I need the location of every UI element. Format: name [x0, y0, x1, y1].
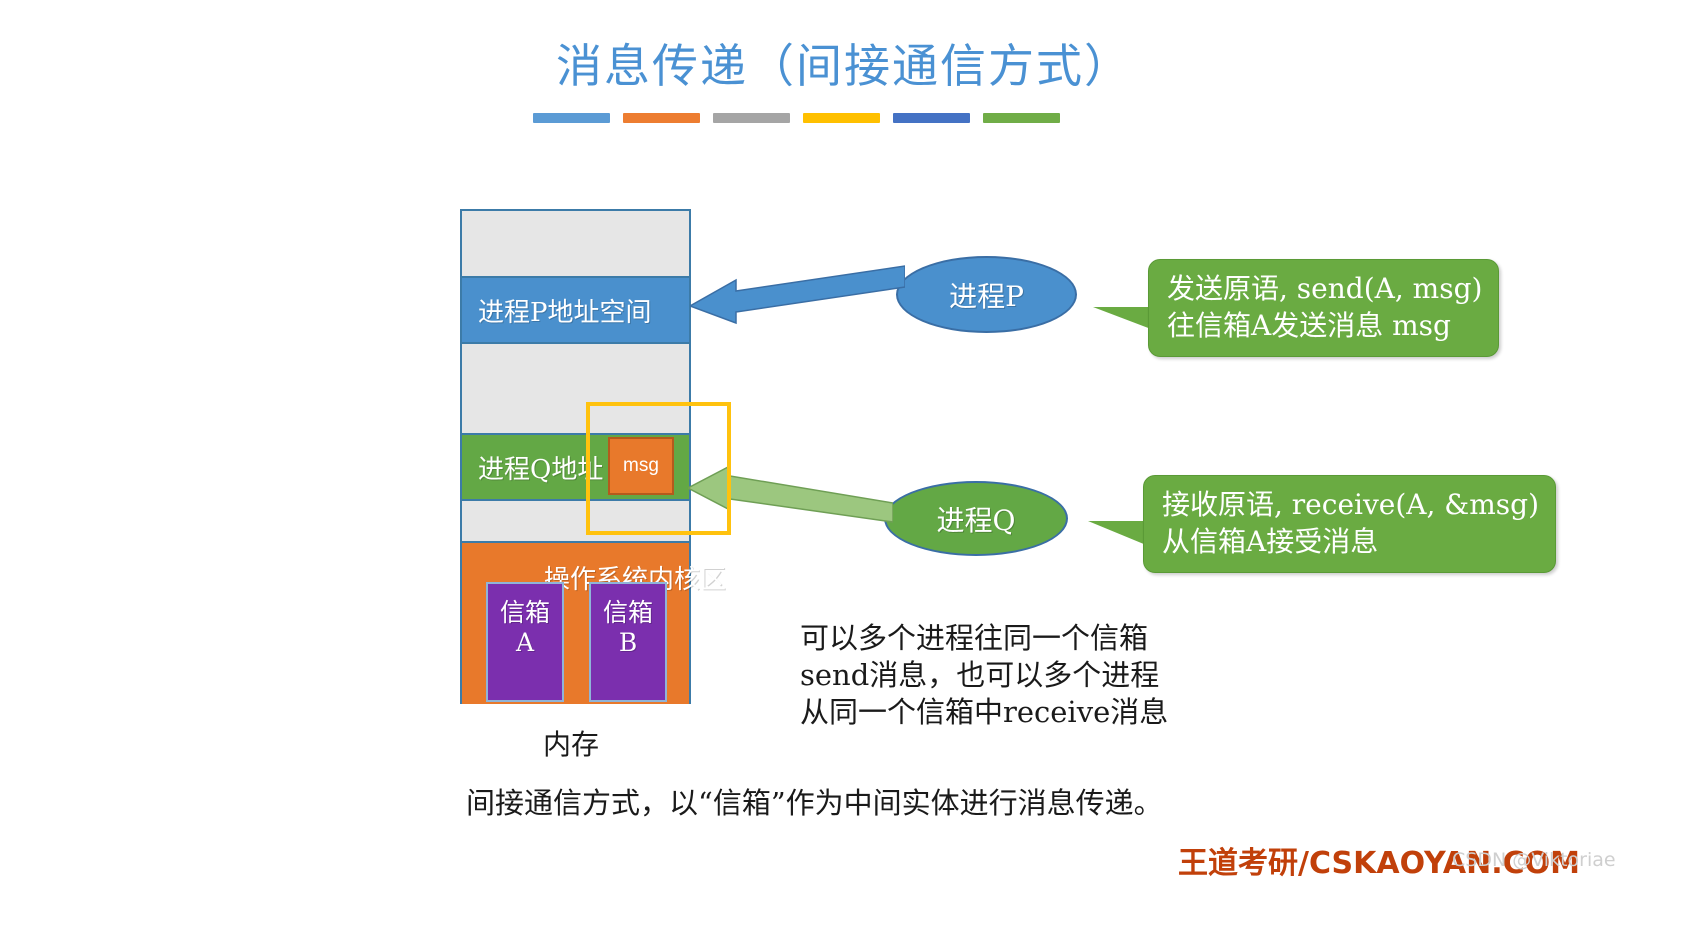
mailbox-b-title: 信箱: [603, 598, 653, 627]
memory-band-process-p-label: 进程P地址空间: [478, 292, 652, 329]
mailbox-b-id: B: [619, 628, 637, 657]
page-title: 消息传递（间接通信方式）: [0, 30, 1688, 96]
receive-callout-line2: 从信箱A接受消息: [1162, 523, 1539, 560]
process-p-label: 进程P: [949, 275, 1024, 315]
highlight-frame: [586, 402, 731, 535]
rule-green: [983, 113, 1060, 123]
arrow-send-to-memory: [690, 258, 905, 330]
note-line2: send消息，也可以多个进程: [800, 657, 1168, 694]
process-q-label: 进程Q: [937, 499, 1016, 539]
rule-orange: [623, 113, 700, 123]
memory-caption: 内存: [543, 723, 599, 763]
explanatory-note: 可以多个进程往同一个信箱 send消息，也可以多个进程 从同一个信箱中recei…: [800, 620, 1168, 731]
receive-callout-tail: [1088, 521, 1146, 545]
process-q-node: 进程Q: [884, 481, 1068, 556]
footnote: 间接通信方式，以“信箱”作为中间实体进行消息传递。: [466, 780, 1163, 822]
receive-callout-line1: 接收原语, receive(A, &msg): [1162, 486, 1539, 523]
send-callout-line2: 往信箱A发送消息 msg: [1167, 307, 1482, 344]
memory-band-process-q-label: 进程Q地址: [478, 449, 603, 486]
send-callout-tail: [1093, 307, 1151, 329]
mailbox-a: 信箱 A: [486, 582, 564, 702]
csdn-watermark: CSDN @Viktoriae: [1452, 849, 1616, 871]
note-line3: 从同一个信箱中receive消息: [800, 694, 1168, 731]
receive-callout: 接收原语, receive(A, &msg) 从信箱A接受消息: [1143, 475, 1556, 573]
rule-gray: [713, 113, 790, 123]
memory-band-kernel: 操作系统内核区 信箱 A 信箱 B: [462, 541, 689, 704]
mailbox-a-title: 信箱: [500, 598, 550, 627]
send-callout-line1: 发送原语, send(A, msg): [1167, 270, 1482, 307]
title-accent-rules: [533, 113, 1060, 123]
mailbox-b: 信箱 B: [589, 582, 667, 702]
rule-indigo: [893, 113, 970, 123]
rule-yellow: [803, 113, 880, 123]
slide-canvas: 消息传递（间接通信方式） 进程P地址空间 进程Q地址 操作系统内核区 信箱 A …: [0, 0, 1688, 940]
process-p-node: 进程P: [896, 256, 1077, 333]
mailbox-a-id: A: [516, 628, 534, 657]
send-callout: 发送原语, send(A, msg) 往信箱A发送消息 msg: [1148, 259, 1499, 357]
memory-band-process-p: 进程P地址空间: [462, 276, 689, 344]
rule-blue: [533, 113, 610, 123]
note-line1: 可以多个进程往同一个信箱: [800, 620, 1168, 657]
